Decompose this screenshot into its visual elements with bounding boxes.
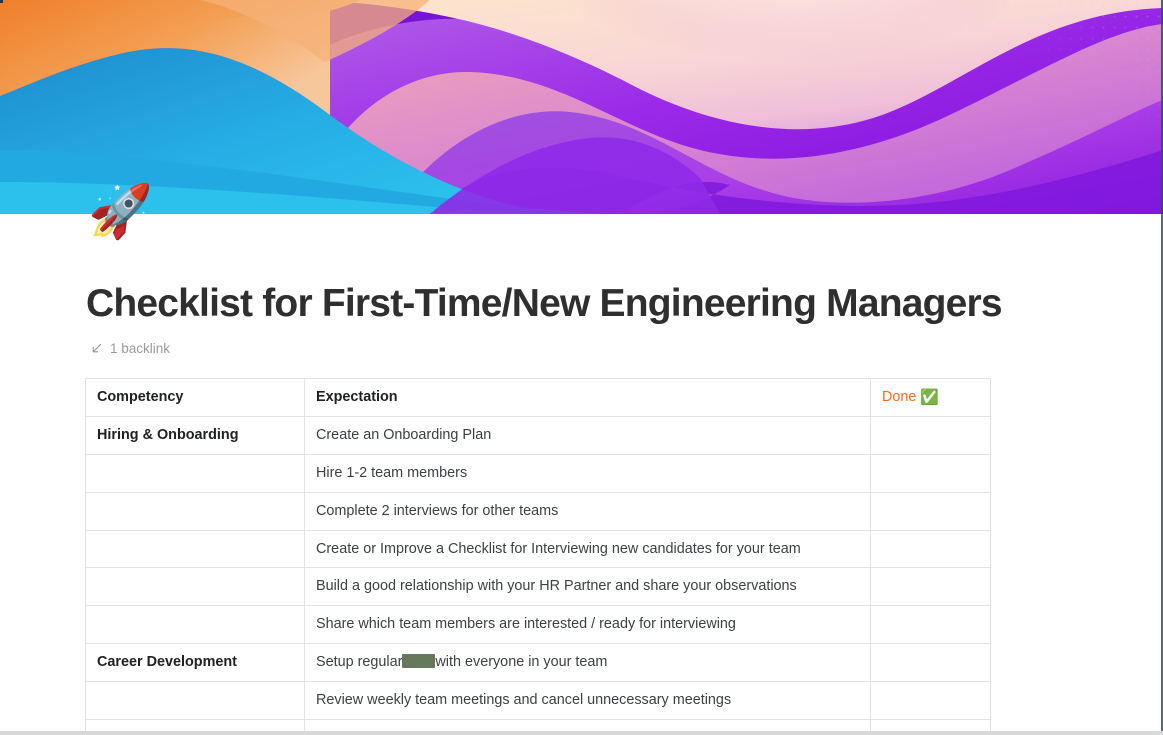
backlink-arrow-icon — [90, 342, 103, 355]
cell-done[interactable] — [871, 682, 991, 720]
table-row[interactable]: Hiring & Onboarding Create an Onboarding… — [86, 416, 991, 454]
document-window: 🚀 Checklist for First-Time/New Engineeri… — [0, 0, 1163, 735]
cell-expectation[interactable]: Complete 2 interviews for other teams — [305, 492, 871, 530]
cover-corner-marker — [0, 0, 3, 3]
table-row[interactable]: Hire 1-2 team members — [86, 454, 991, 492]
cell-competency[interactable]: Career Development — [86, 644, 305, 682]
cell-competency[interactable] — [86, 682, 305, 720]
expectation-prefix: Setup regular — [316, 654, 402, 670]
redacted-text-block — [402, 654, 435, 668]
page-body: 🚀 Checklist for First-Time/New Engineeri… — [0, 214, 1163, 735]
cell-done[interactable] — [871, 568, 991, 606]
table-row[interactable]: Create or Improve a Checklist for Interv… — [86, 530, 991, 568]
cell-expectation[interactable]: Share which team members are interested … — [305, 606, 871, 644]
cover-image[interactable] — [0, 0, 1163, 214]
header-expectation[interactable]: Expectation — [305, 379, 871, 417]
expectation-suffix: with everyone in your team — [435, 654, 607, 670]
table-row[interactable]: Complete 2 interviews for other teams — [86, 492, 991, 530]
table-row[interactable]: Career Development Setup regularwith eve… — [86, 644, 991, 682]
table-row[interactable]: Share which team members are interested … — [86, 606, 991, 644]
header-done-label: Done — [882, 387, 916, 408]
checklist-table-container: Competency Expectation Done ✅ Hiring & O… — [85, 378, 990, 735]
cell-competency[interactable]: Hiring & Onboarding — [86, 416, 305, 454]
header-competency[interactable]: Competency — [86, 379, 305, 417]
cell-expectation[interactable]: Setup regularwith everyone in your team — [305, 644, 871, 682]
cell-done[interactable] — [871, 644, 991, 682]
cell-expectation[interactable]: Build a good relationship with your HR P… — [305, 568, 871, 606]
table-header-row: Competency Expectation Done ✅ — [86, 379, 991, 417]
cell-done[interactable] — [871, 492, 991, 530]
cell-competency[interactable] — [86, 568, 305, 606]
cell-competency[interactable] — [86, 530, 305, 568]
cell-expectation[interactable]: Review weekly team meetings and cancel u… — [305, 682, 871, 720]
check-mark-emoji: ✅ — [920, 390, 939, 405]
cell-expectation[interactable]: Create or Improve a Checklist for Interv… — [305, 530, 871, 568]
cell-competency[interactable] — [86, 454, 305, 492]
cell-expectation[interactable]: Hire 1-2 team members — [305, 454, 871, 492]
cell-done[interactable] — [871, 530, 991, 568]
window-bottom-edge — [0, 731, 1163, 735]
table-row[interactable]: Build a good relationship with your HR P… — [86, 568, 991, 606]
cell-competency[interactable] — [86, 606, 305, 644]
cell-done[interactable] — [871, 606, 991, 644]
checklist-table: Competency Expectation Done ✅ Hiring & O… — [85, 378, 991, 735]
cell-done[interactable] — [871, 454, 991, 492]
cell-competency[interactable] — [86, 492, 305, 530]
backlink[interactable]: 1 backlink — [90, 341, 170, 356]
page-title: Checklist for First-Time/New Engineering… — [86, 282, 1002, 326]
header-done[interactable]: Done ✅ — [871, 379, 991, 417]
cell-done[interactable] — [871, 416, 991, 454]
backlink-label: 1 backlink — [110, 341, 170, 356]
table-row[interactable]: Review weekly team meetings and cancel u… — [86, 682, 991, 720]
cell-expectation[interactable]: Create an Onboarding Plan — [305, 416, 871, 454]
rocket-emoji[interactable]: 🚀 — [88, 186, 153, 238]
